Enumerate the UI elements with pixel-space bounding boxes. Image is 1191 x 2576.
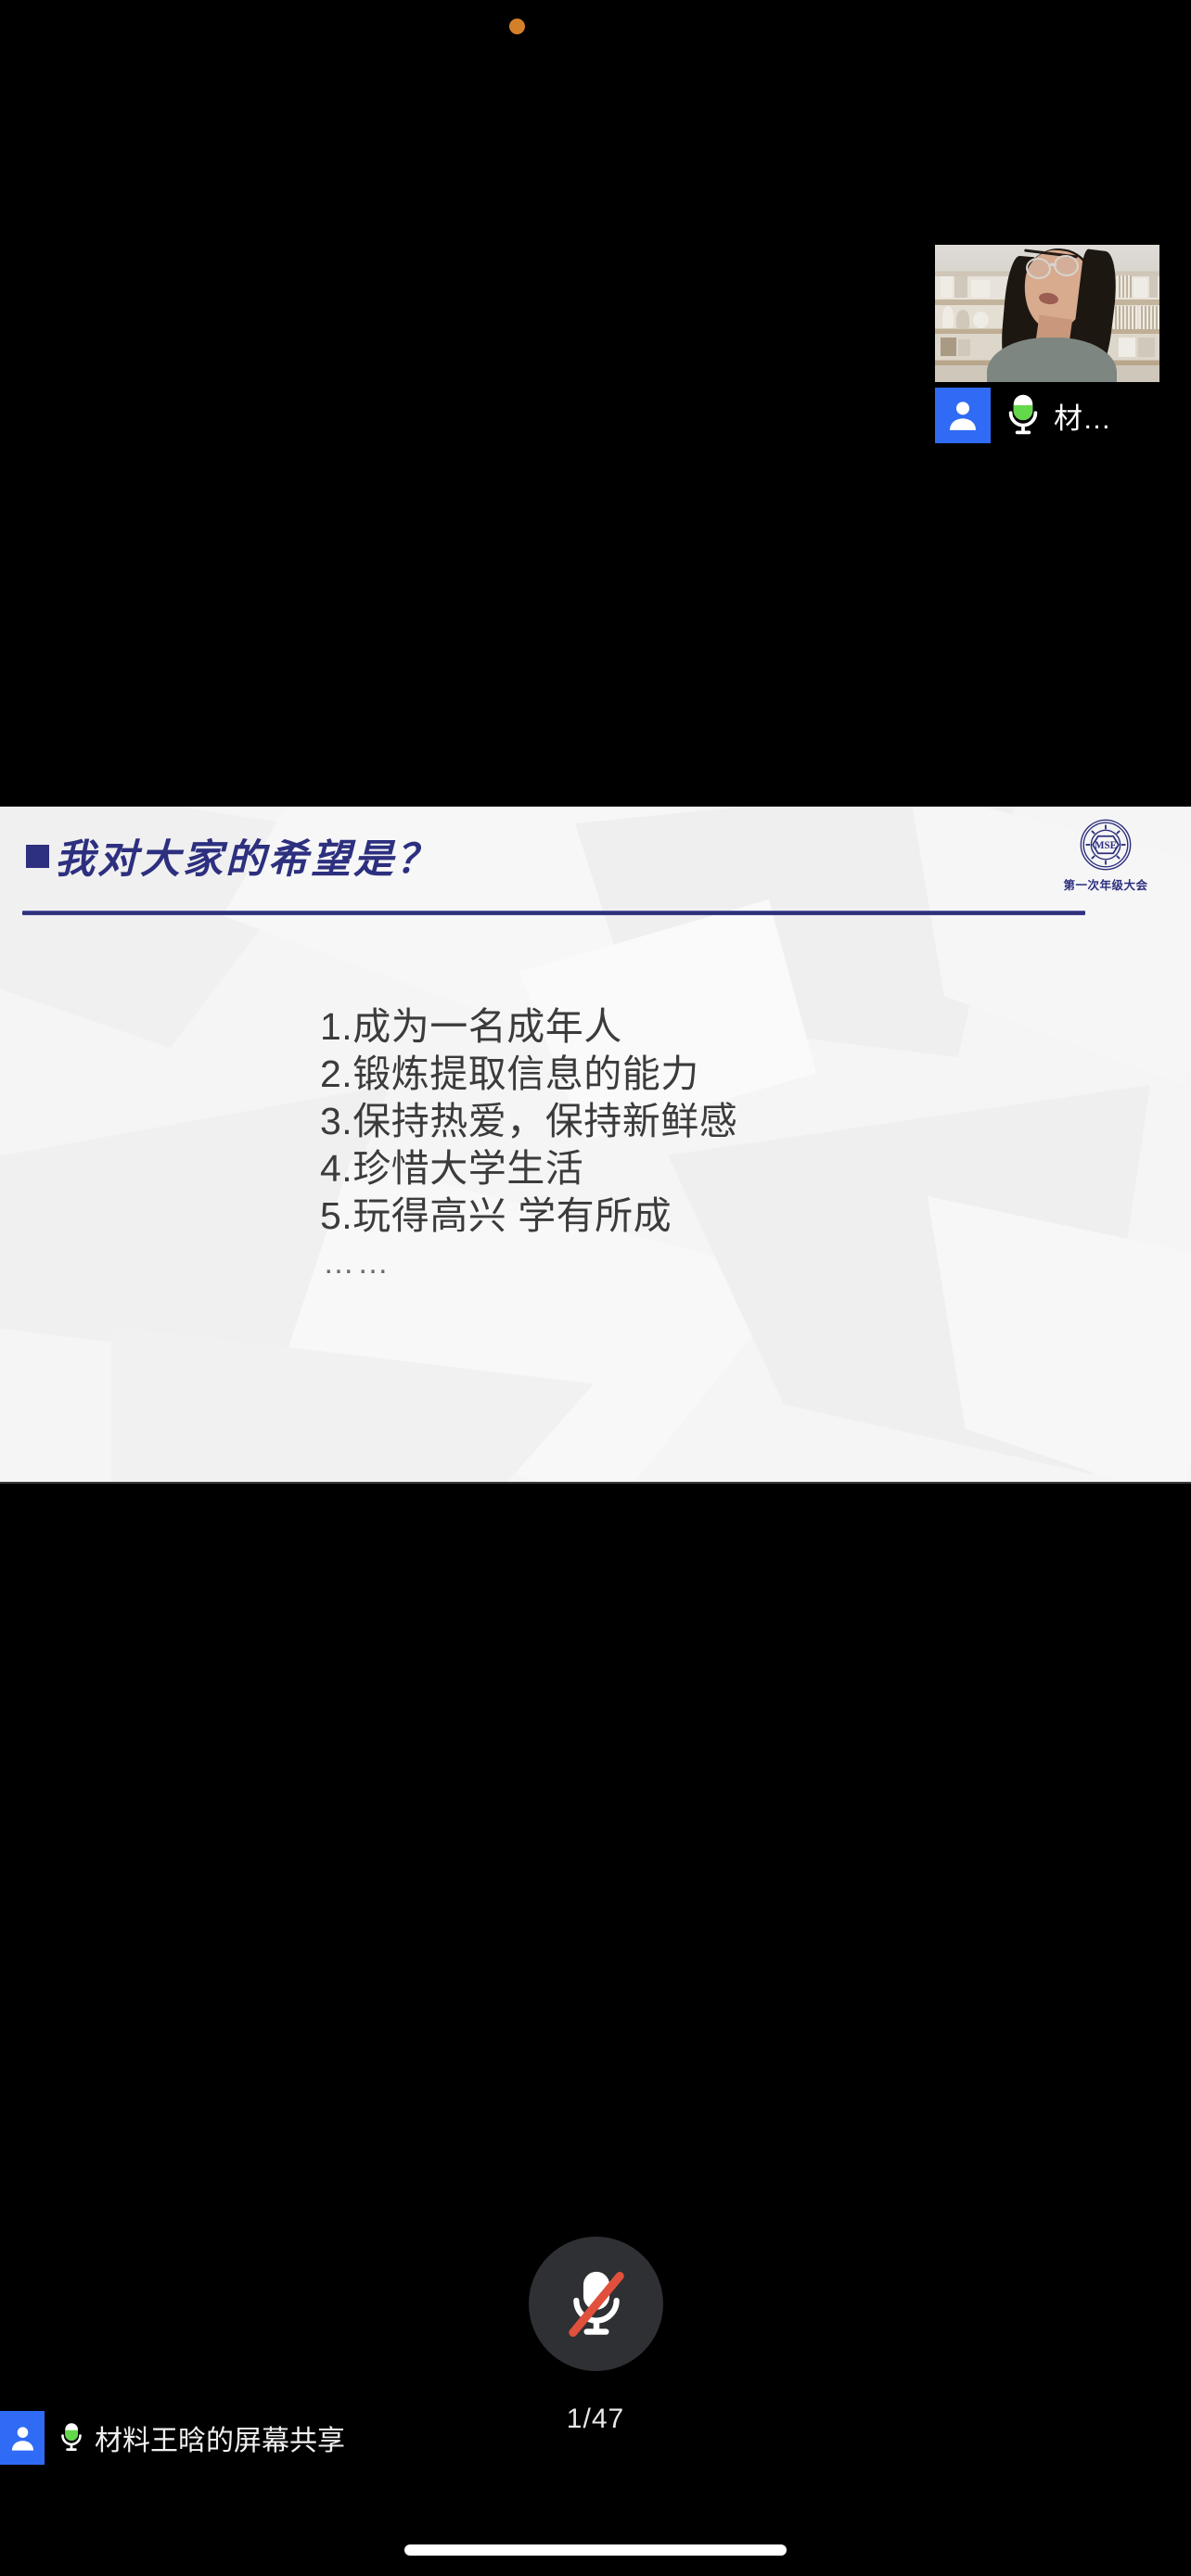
participant-name-row[interactable]: 材… [935, 388, 1184, 443]
slide-title-divider [22, 911, 1085, 915]
mute-microphone-button[interactable] [529, 2237, 663, 2371]
slide-title-text: 我对大家的希望是？ [55, 827, 439, 885]
svg-text:MSE: MSE [1095, 840, 1117, 851]
home-indicator-bar[interactable] [404, 2544, 787, 2556]
mse-gear-emblem-icon: MSE [1079, 818, 1133, 872]
microphone-in-use-indicator [509, 19, 525, 34]
slide-body-ellipsis: …… [323, 1245, 391, 1282]
presenter-status-bar[interactable]: 材料王晗的屏幕共享 [0, 2411, 345, 2465]
list-item: 4.珍惜大学生活 [320, 1145, 737, 1192]
microphone-active-icon [58, 2421, 85, 2455]
presenter-label: 材料王晗的屏幕共享 [95, 2417, 345, 2458]
list-item: 1.成为一名成年人 [320, 1003, 737, 1051]
participant-video-tile[interactable] [935, 245, 1159, 382]
slide-logo-caption: 第一次年级大会 [1063, 875, 1147, 893]
slide-logo-block: MSE 第一次年级大会 [1059, 818, 1152, 893]
shared-screen-slide[interactable]: 我对大家的希望是？ [0, 806, 1191, 1484]
meeting-screen-share-view: 材… 我对大家的希望是？ [0, 0, 1191, 2576]
avatar [0, 2411, 45, 2465]
list-item: 2.锻炼提取信息的能力 [320, 1051, 737, 1098]
list-item: 3.保持热爱，保持新鲜感 [320, 1098, 737, 1145]
microphone-muted-icon [558, 2266, 634, 2342]
list-item: 5.玩得高兴 学有所成 [320, 1192, 737, 1240]
slide-title: 我对大家的希望是？ [26, 827, 439, 885]
participant-name-label: 材… [1054, 395, 1111, 437]
slide-title-bullet-icon [26, 845, 49, 868]
avatar [935, 388, 991, 443]
slide-body-list: 1.成为一名成年人 2.锻炼提取信息的能力 3.保持热爱，保持新鲜感 4.珍惜大… [320, 1003, 737, 1240]
microphone-active-icon [1004, 393, 1043, 438]
